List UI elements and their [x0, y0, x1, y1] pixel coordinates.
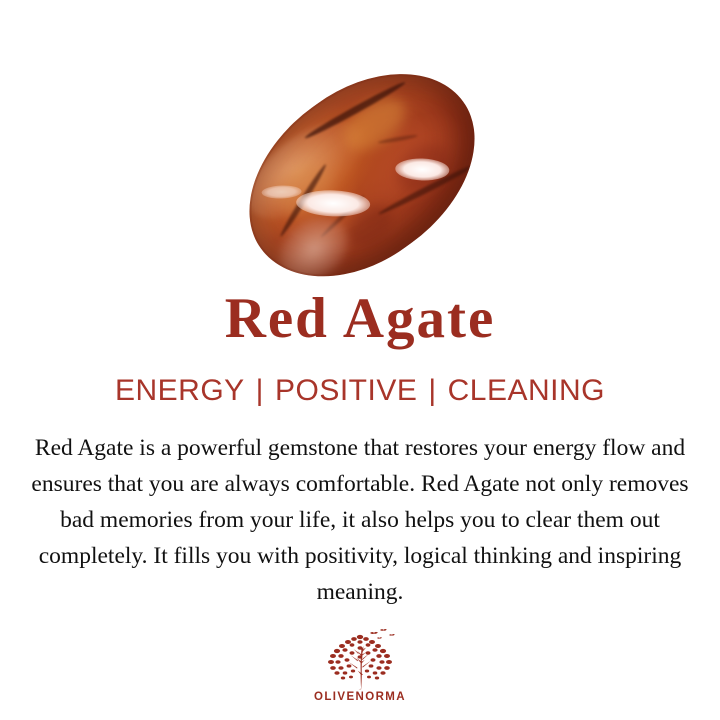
product-info-card: RedAgate ENERGY|POSITIVE|CLEANING Red Ag…	[0, 0, 720, 720]
gemstone-image	[262, 70, 462, 280]
product-image-area	[0, 0, 720, 290]
keyword-separator: |	[245, 374, 275, 408]
keyword-cleaning: CLEANING	[448, 374, 605, 407]
keyword-separator: |	[417, 374, 447, 408]
gemstone-body	[211, 34, 512, 317]
gemstone-rim	[211, 34, 512, 317]
title-word-one: Red	[225, 287, 329, 350]
product-description: Red Agate is a powerful gemstone that re…	[22, 430, 698, 610]
title-word-two: Agate	[343, 287, 495, 350]
brand-wordmark: OLIVENORMA	[314, 691, 406, 703]
keyword-positive: POSITIVE	[275, 374, 417, 407]
birds-icon	[370, 629, 395, 639]
keyword-line: ENERGY|POSITIVE|CLEANING	[115, 374, 605, 408]
page-title: RedAgate	[225, 290, 496, 347]
tree-with-birds-icon	[318, 628, 402, 690]
keyword-energy: ENERGY	[115, 374, 245, 407]
brand-logo: OLIVENORMA	[314, 628, 406, 703]
